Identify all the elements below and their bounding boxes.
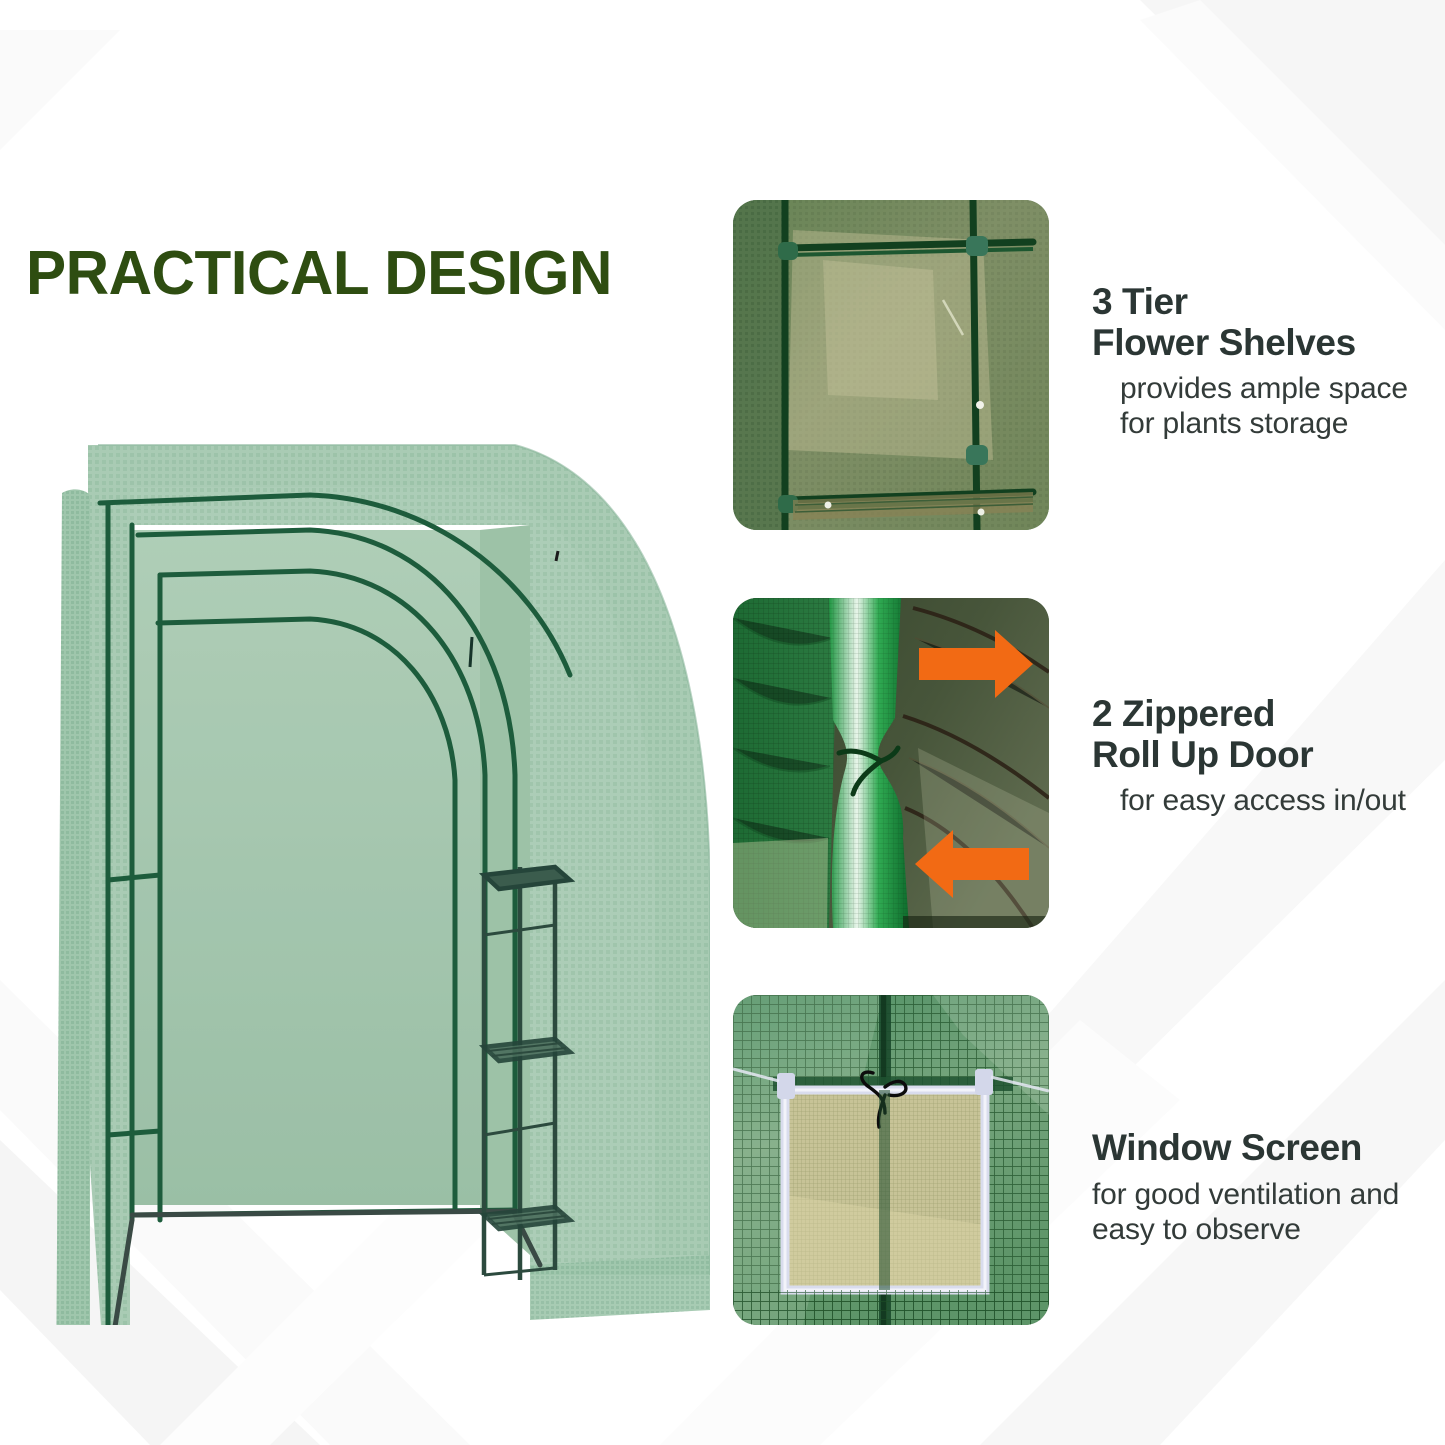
feature-3-heading: Window Screen <box>1092 1128 1444 1169</box>
greenhouse-illustration <box>10 375 710 1325</box>
page-title: PRACTICAL DESIGN <box>26 238 612 309</box>
feature-1-heading: 3 Tier Flower Shelves <box>1092 282 1444 363</box>
zippered-roll-up-door-photo[interactable] <box>733 598 1049 928</box>
feature-2-heading: 2 Zippered Roll Up Door <box>1092 694 1444 775</box>
window-screen-photo[interactable] <box>733 995 1049 1325</box>
feature-1-subtext: provides ample space for plants storage <box>1092 371 1444 441</box>
three-tier-flower-shelves-photo[interactable] <box>733 200 1049 530</box>
feature-2-subtext: for easy access in/out <box>1092 783 1444 818</box>
feature-3-subtext: for good ventilation and easy to observe <box>1092 1177 1444 1247</box>
